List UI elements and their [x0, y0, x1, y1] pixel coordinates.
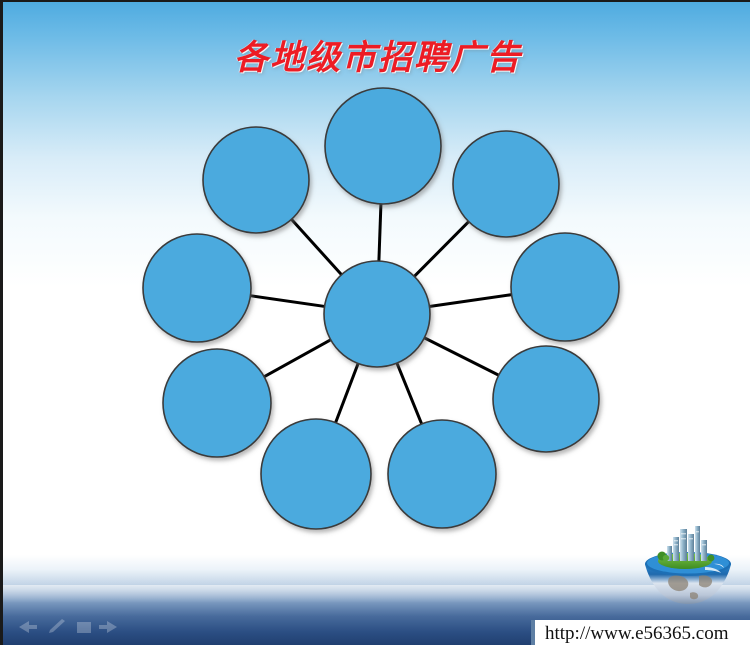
node-right-circle[interactable]	[511, 233, 619, 341]
node-top-circle[interactable]	[325, 88, 441, 204]
spoke-line-5	[397, 362, 422, 425]
node-top[interactable]	[325, 88, 441, 204]
center-node-circle[interactable]	[324, 261, 430, 367]
node-bottom-right-low[interactable]	[388, 420, 496, 528]
node-bottom-left-circle[interactable]	[163, 349, 271, 457]
spoke-line-3	[428, 295, 512, 307]
slide-canvas: 各地级市招聘广告	[0, 0, 750, 645]
spoke-line-7	[263, 339, 331, 377]
center-node[interactable]	[324, 261, 430, 367]
spoke-line-6	[335, 363, 358, 424]
node-top-right[interactable]	[453, 131, 559, 237]
spoke-line-2	[414, 221, 470, 277]
globe-city-logo	[633, 520, 743, 608]
spoke-line-4	[423, 337, 499, 375]
node-top-right-circle[interactable]	[453, 131, 559, 237]
node-bottom-left-low-circle[interactable]	[261, 419, 371, 529]
node-bottom-left-low[interactable]	[261, 419, 371, 529]
node-top-left-circle[interactable]	[203, 127, 309, 233]
node-left[interactable]	[143, 234, 251, 342]
url-watermark: http://www.e56365.com	[531, 620, 750, 645]
node-bottom-left[interactable]	[163, 349, 271, 457]
spoke-line-8	[249, 296, 325, 307]
node-bottom-right-circle[interactable]	[493, 346, 599, 452]
node-bottom-right[interactable]	[493, 346, 599, 452]
url-watermark-text: http://www.e56365.com	[535, 623, 728, 645]
center-node-group	[324, 261, 430, 367]
node-right[interactable]	[511, 233, 619, 341]
node-left-circle[interactable]	[143, 234, 251, 342]
spoke-line-9	[291, 219, 342, 276]
node-top-left[interactable]	[203, 127, 309, 233]
spoke-line-1	[379, 203, 381, 262]
node-bottom-right-low-circle[interactable]	[388, 420, 496, 528]
